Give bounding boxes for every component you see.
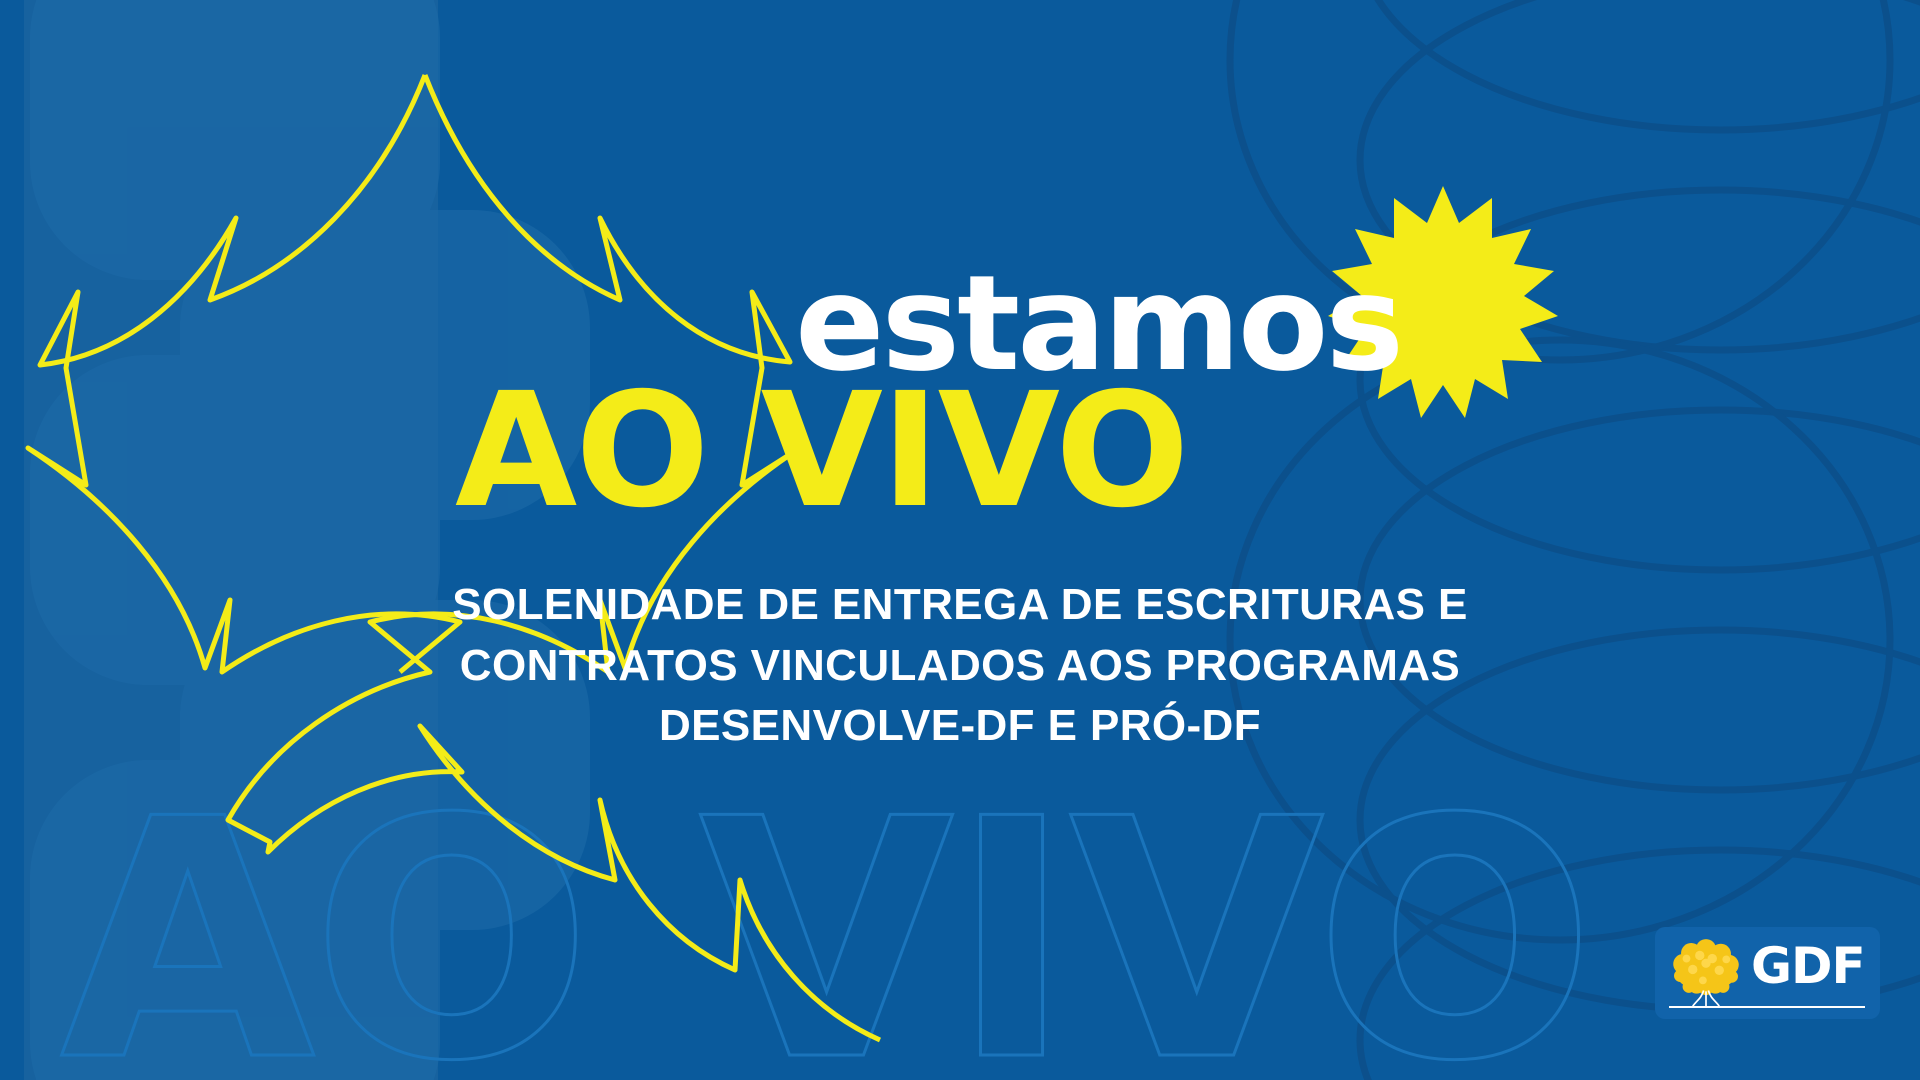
event-subtitle: SOLENIDADE DE ENTREGA DE ESCRITURAS E CO… [330, 575, 1590, 757]
subtitle-line-1: SOLENIDADE DE ENTREGA DE ESCRITURAS E [330, 575, 1590, 636]
subtitle-line-2: CONTRATOS VINCULADOS AOS PROGRAMAS [330, 636, 1590, 697]
gdf-logo: GDF [1655, 927, 1880, 1019]
headline-ao-vivo: AO VIVO [455, 372, 1188, 530]
gdf-wordmark: GDF [1751, 941, 1865, 991]
gdf-divider-rule [1669, 1006, 1865, 1008]
livestream-title-card: AO VIVO estamos AO VIVO SOLENIDADE DE EN… [0, 0, 1920, 1080]
ipe-tree-icon [1667, 932, 1745, 1014]
subtitle-line-3: DESENVOLVE-DF E PRÓ-DF [330, 696, 1590, 757]
